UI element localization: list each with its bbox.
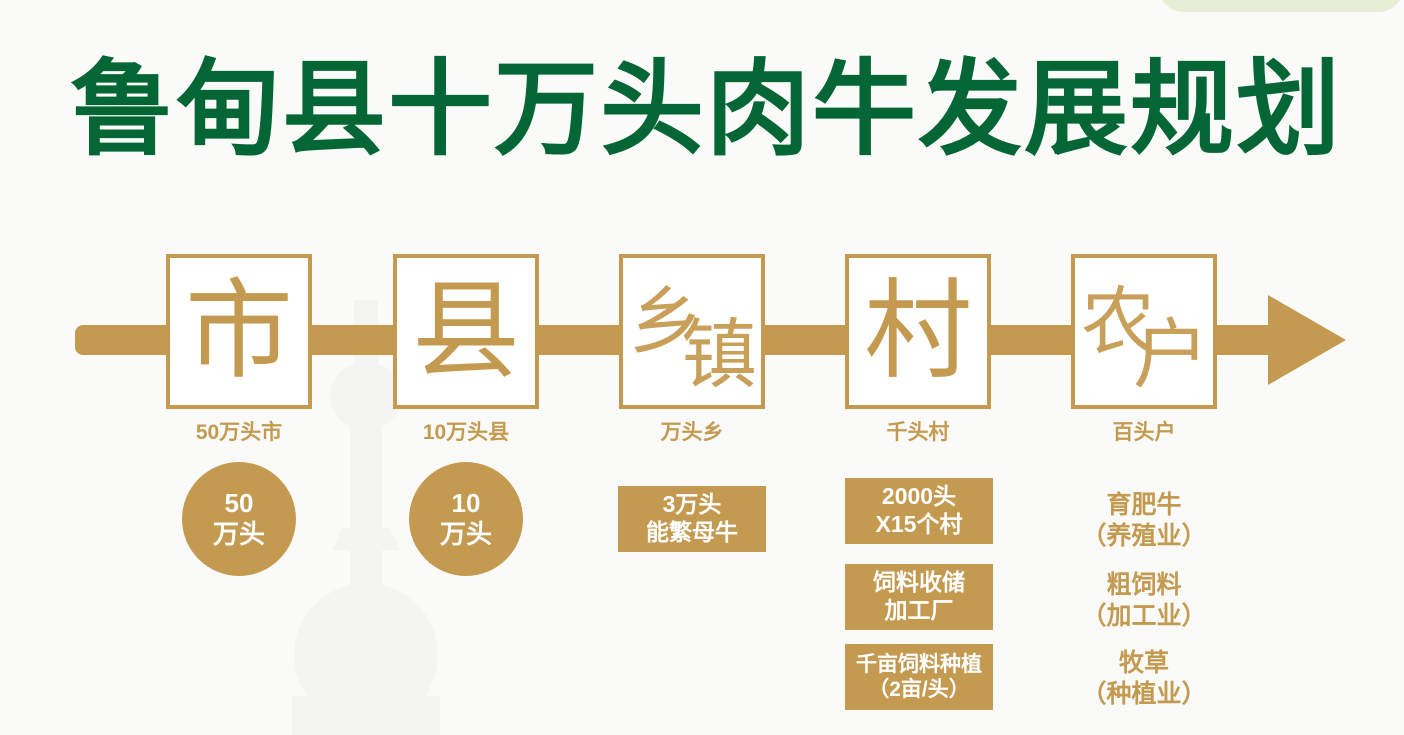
household-item-1: 育肥牛 （养殖业） bbox=[1054, 490, 1234, 551]
flow-node-village[interactable]: 村 bbox=[845, 254, 991, 409]
household-item-1-line1: 育肥牛 bbox=[1054, 490, 1234, 521]
metric-chip-village-3[interactable]: 千亩饲料种植 （2亩/头） bbox=[845, 644, 993, 710]
flow-node-township[interactable]: 乡 镇 bbox=[619, 254, 765, 409]
household-item-1-line2: （养殖业） bbox=[1054, 521, 1234, 552]
metric-circle-city-unit: 万头 bbox=[213, 519, 265, 550]
flow-label-city: 50万头市 bbox=[144, 416, 334, 446]
household-item-3: 牧草 （种植业） bbox=[1054, 648, 1234, 709]
household-item-2-line2: （加工业） bbox=[1054, 601, 1234, 632]
page-title: 鲁甸县十万头肉牛发展规划 bbox=[70, 58, 1342, 162]
metric-chip-village-1[interactable]: 2000头 X15个村 bbox=[845, 478, 993, 544]
node-glyph-township-b: 镇 bbox=[681, 293, 757, 403]
flow-node-household[interactable]: 农 户 bbox=[1071, 254, 1217, 409]
node-glyph-city: 市 bbox=[170, 258, 308, 405]
metric-chip-village-1-line2: X15个村 bbox=[876, 511, 963, 539]
metric-circle-county[interactable]: 10 万头 bbox=[409, 462, 523, 576]
metric-circle-city[interactable]: 50 万头 bbox=[182, 462, 296, 576]
household-item-2: 粗饲料 （加工业） bbox=[1054, 570, 1234, 631]
flow-node-county[interactable]: 县 bbox=[393, 254, 539, 409]
flow-label-county: 10万头县 bbox=[371, 416, 561, 446]
metric-chip-township[interactable]: 3万头 能繁母牛 bbox=[618, 486, 766, 552]
top-green-tab-decoration bbox=[1158, 0, 1404, 12]
household-item-2-line1: 粗饲料 bbox=[1054, 570, 1234, 601]
household-item-3-line1: 牧草 bbox=[1054, 648, 1234, 679]
node-glyph-village: 村 bbox=[849, 258, 987, 405]
slide-canvas: 鲁甸县十万头肉牛发展规划 市 50万头市 县 10万头县 乡 镇 万头乡 村 千… bbox=[0, 0, 1404, 735]
flow-label-township: 万头乡 bbox=[597, 416, 787, 446]
household-item-3-line2: （种植业） bbox=[1054, 679, 1234, 710]
metric-chip-village-3-line1: 千亩饲料种植 bbox=[856, 652, 982, 677]
metric-chip-village-1-line1: 2000头 bbox=[882, 483, 956, 511]
flow-label-village: 千头村 bbox=[823, 416, 1013, 446]
flow-label-household: 百头户 bbox=[1049, 416, 1239, 446]
flow-node-city[interactable]: 市 bbox=[166, 254, 312, 409]
node-glyph-county: 县 bbox=[397, 258, 535, 405]
metric-chip-village-2-line1: 饲料收储 bbox=[873, 569, 965, 597]
metric-chip-village-2[interactable]: 饲料收储 加工厂 bbox=[845, 564, 993, 630]
metric-circle-county-unit: 万头 bbox=[440, 519, 492, 550]
metric-chip-village-3-line2: （2亩/头） bbox=[868, 677, 970, 702]
metric-chip-village-2-line2: 加工厂 bbox=[885, 597, 954, 625]
metric-chip-township-line1: 3万头 bbox=[663, 491, 722, 519]
metric-circle-county-value: 10 bbox=[452, 488, 481, 519]
metric-circle-city-value: 50 bbox=[225, 488, 254, 519]
metric-chip-township-line2: 能繁母牛 bbox=[646, 519, 738, 547]
node-glyph-household-b: 户 bbox=[1133, 293, 1209, 403]
